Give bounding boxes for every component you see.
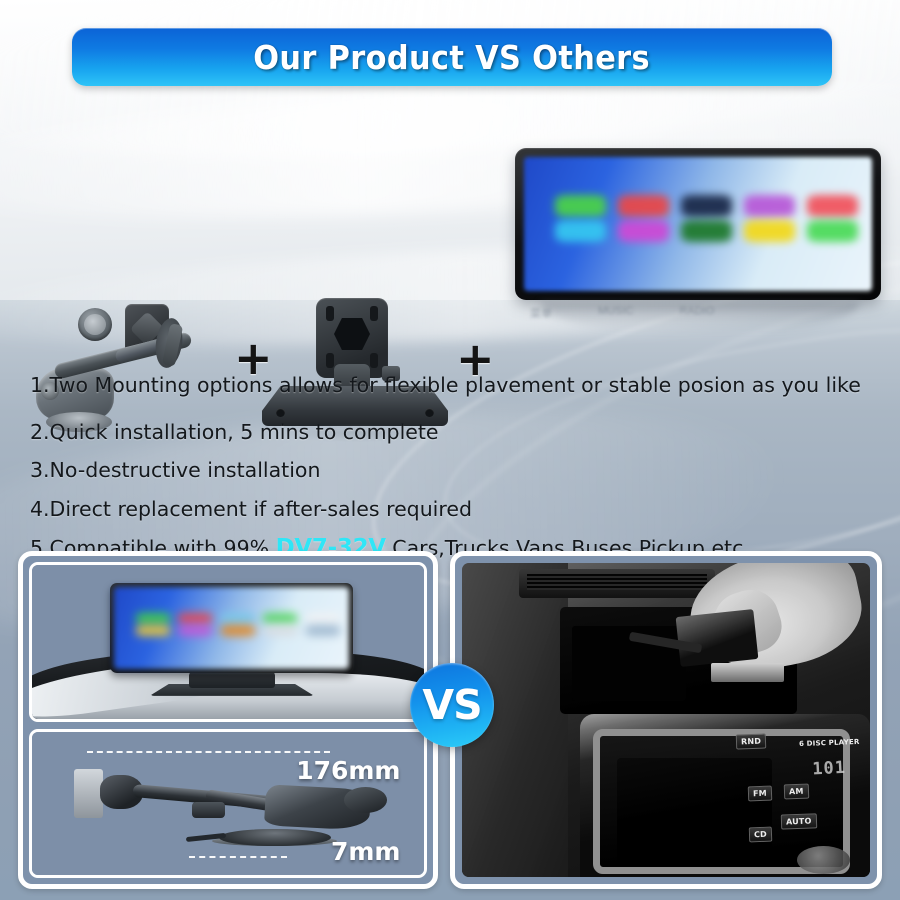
bracket-slot-3 [326,353,334,368]
measurement-scene: 176mm 7mm [32,732,424,875]
feature-item-2: 2.Quick installation, 5 mins to complete [30,422,880,443]
device-caption-3: RADIO [679,305,714,323]
app-icon-r1-c5 [807,195,858,217]
arm-end-cap-part [344,787,387,813]
app-icon-r2-c5 [306,625,340,636]
destructive-install-photo: 101 RND 6 DISC PLAYER FM AM CD AUTO [462,563,870,877]
bracket-slot-4 [370,353,378,368]
page-title: Our Product VS Others [254,38,651,77]
dimension-label-height: 7mm [331,837,401,866]
air-vent-louvers-shape [527,574,707,590]
app-icon-r1-c4 [263,613,297,624]
arm-adjust-knob-part [192,802,225,818]
app-icon-r1-c4 [744,195,795,217]
feature-item-4: 4.Direct replacement if after-sales requ… [30,499,880,520]
mounted-display-unit [110,583,353,672]
suction-cup-body-part [219,829,331,847]
our-product-install-photo [29,562,427,722]
radio-button-auto: AUTO [781,814,817,830]
app-icon-r2-c3 [681,220,732,242]
feature-list: 1.Two Mounting options allows for flexib… [30,375,880,560]
app-icon-r1-c1 [136,613,170,624]
app-icon-r1-c3 [221,613,255,624]
device-caption-2: MUSIC [598,305,633,323]
car-stereo-display-readout: 101 [812,756,870,806]
device-caption-row: 菜单 MUSIC RADIO [530,305,790,323]
feature-item-1: 1.Two Mounting options allows for flexib… [30,375,880,396]
device-screen [524,157,872,291]
comparison-panel-ours: 176mm 7mm [18,551,438,889]
comparison-panel-others: 101 RND 6 DISC PLAYER FM AM CD AUTO [450,551,882,889]
radio-button-cd: CD [749,826,772,842]
dimension-line-length [87,751,330,753]
app-icon-r2-c1 [136,625,170,636]
app-icon-r1-c3 [681,195,732,217]
vs-label: VS [422,681,481,729]
dimension-label-length: 176mm [296,756,400,785]
app-icon-r2-c5 [807,220,858,242]
bracket-slot-2 [370,306,378,321]
app-icon-r2-c4 [263,625,297,636]
dimension-line-height [189,856,287,858]
app-icon-r1-c2 [178,613,212,624]
mounted-display-screen [114,587,349,668]
app-icon-r1-c5 [306,613,340,624]
app-icon-r2-c3 [221,625,255,636]
mount-dimensions-photo: 176mm 7mm [29,729,427,878]
radio-button-am: AM [784,784,809,800]
app-icon-r2-c2 [618,220,669,242]
app-icon-grid [524,157,872,291]
bracket-slot-1 [326,306,334,321]
car-stereo-screen-shape [617,758,772,865]
carplay-display-unit-image [515,148,881,300]
radio-button-rnd: RND [736,734,767,750]
radio-button-fm: FM [748,786,772,802]
circuit-board-shape [711,663,784,682]
app-icon-r2-c1 [555,220,606,242]
device-caption-1: 菜单 [530,305,552,323]
radio-volume-knob-shape [797,846,850,874]
app-icon-r2-c2 [178,625,212,636]
lock-knob-part [78,308,112,341]
car-interior-scene [32,565,424,719]
app-icon-grid-small [114,587,349,668]
app-icon-r2-c4 [744,220,795,242]
arm-clamp-plate-part [74,769,104,818]
app-icon-r1-c2 [618,195,669,217]
vs-badge: VS [410,663,494,747]
title-banner: Our Product VS Others [72,28,832,86]
feature-item-3: 3.No-destructive installation [30,460,880,481]
infographic-page: Our Product VS Others + [0,0,900,900]
removed-module-shape [676,609,758,667]
app-icon-r1-c1 [555,195,606,217]
